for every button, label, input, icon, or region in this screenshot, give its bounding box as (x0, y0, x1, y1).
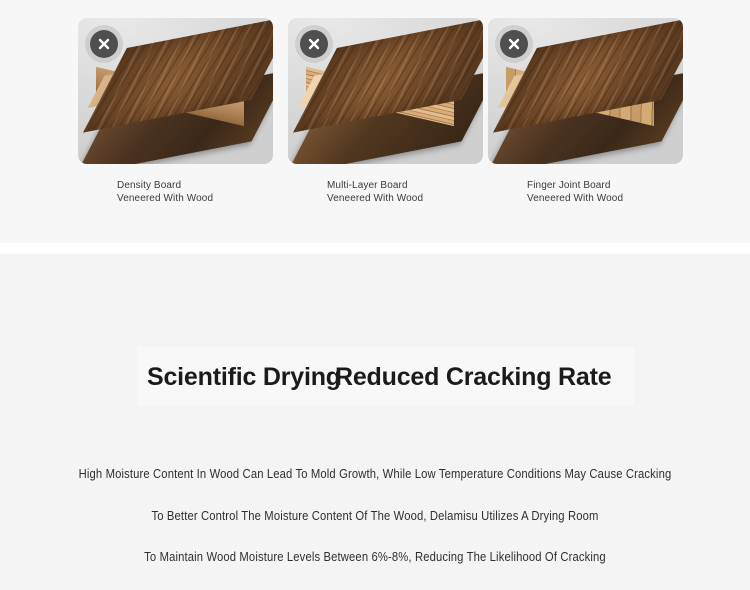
board-image-finger-joint-board (488, 18, 683, 164)
page-title-primary: Scientific Drying (147, 360, 341, 394)
drying-description-line-3: To Maintain Wood Moisture Levels Between… (38, 550, 713, 564)
section-divider (0, 243, 750, 254)
product-detail-page: Density Board Veneered With Wood Multi-L (0, 0, 750, 590)
board-card-label: Density Board Veneered With Wood (78, 179, 273, 205)
board-card-finger-joint-board[interactable]: Finger Joint Board Veneered With Wood (488, 18, 683, 205)
board-card-multi-layer-board[interactable]: Multi-Layer Board Veneered With Wood (288, 18, 483, 205)
board-card-density-board[interactable]: Density Board Veneered With Wood (78, 18, 273, 205)
board-card-label: Finger Joint Board Veneered With Wood (488, 179, 683, 205)
page-title-secondary: Reduced Cracking Rate (335, 360, 611, 394)
scientific-drying-section (0, 254, 750, 590)
board-types-section: Density Board Veneered With Wood Multi-L (0, 0, 750, 243)
drying-description-line-2: To Better Control The Moisture Content O… (38, 509, 713, 523)
x-icon[interactable] (90, 30, 118, 58)
x-icon[interactable] (500, 30, 528, 58)
x-icon[interactable] (300, 30, 328, 58)
board-image-density-board (78, 18, 273, 164)
board-card-label: Multi-Layer Board Veneered With Wood (288, 179, 483, 205)
drying-description-line-1: High Moisture Content In Wood Can Lead T… (38, 467, 713, 481)
board-image-multi-layer-board (288, 18, 483, 164)
